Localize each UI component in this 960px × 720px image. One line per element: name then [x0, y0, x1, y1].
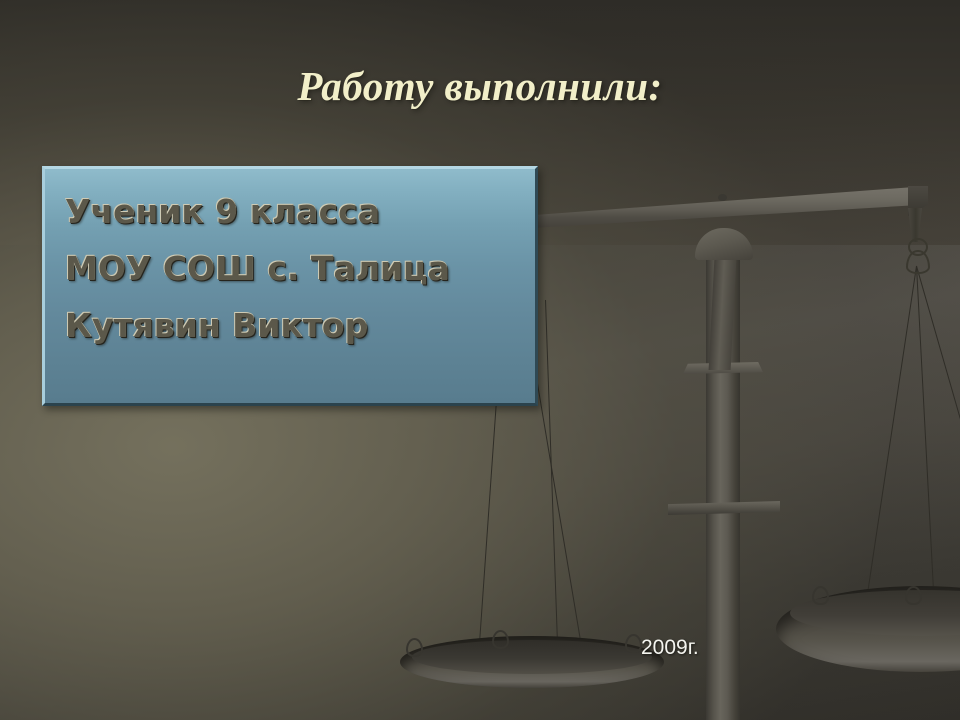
right-pan-string	[867, 266, 917, 593]
author-line-grade: Ученик 9 класса	[65, 183, 523, 240]
author-line-school: МОУ СОШ с. Талица	[65, 240, 523, 297]
right-pan-interior	[790, 590, 960, 636]
scale-beam	[498, 186, 928, 230]
right-pan-string	[916, 266, 960, 574]
author-info-panel: Ученик 9 класса МОУ СОШ с. Талица Кутяви…	[42, 166, 538, 406]
scale-pivot-dome	[695, 228, 753, 260]
scale-hanger-ring-upper	[908, 238, 928, 256]
right-pan-hook	[905, 586, 922, 605]
scale-hanger-ring-lower	[906, 250, 930, 274]
left-pan-string	[545, 300, 559, 650]
scale-beam-right-tip	[908, 186, 928, 216]
scale-beam-right-stem	[908, 208, 922, 242]
scale-pivot-knob	[718, 194, 727, 201]
slide-title: Работу выполнили:	[0, 62, 960, 110]
presentation-slide: Работу выполнили: Ученик 9 класса МОУ СО…	[0, 0, 960, 720]
right-pan	[776, 586, 960, 672]
left-pan-hook	[406, 638, 423, 657]
right-pan-string	[916, 266, 935, 602]
right-pan-hook	[812, 586, 829, 605]
scale-column	[706, 255, 740, 720]
left-pan	[400, 636, 664, 688]
author-info-lines: Ученик 9 класса МОУ СОШ с. Талица Кутяви…	[65, 183, 523, 354]
scale-column-collar	[668, 501, 780, 515]
year-label: 2009г.	[641, 636, 699, 660]
author-line-name: Кутявин Виктор	[65, 297, 523, 354]
scale-column-upper-plate	[683, 362, 763, 374]
left-pan-interior	[412, 640, 652, 674]
left-pan-hook	[492, 630, 509, 649]
scale-pivot-neck	[709, 240, 738, 370]
left-pan-hook	[625, 634, 642, 653]
